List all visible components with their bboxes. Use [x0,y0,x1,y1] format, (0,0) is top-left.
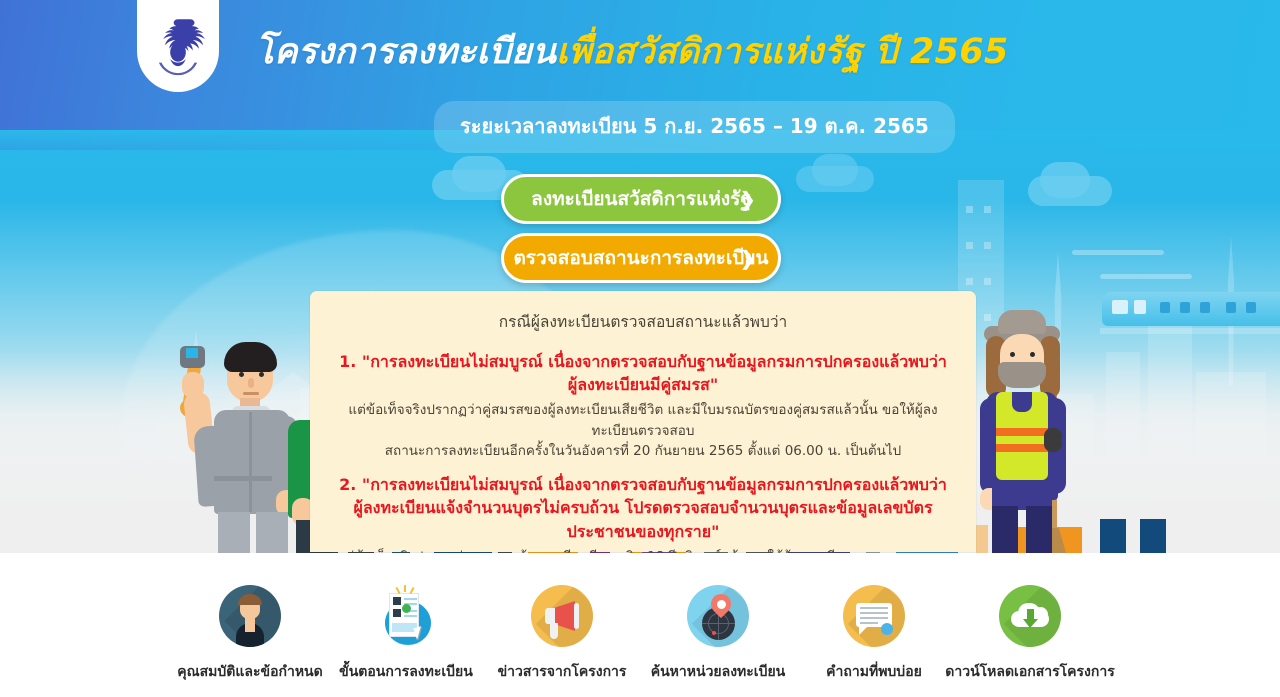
megaphone-icon [531,585,593,647]
quicknav-label: คำถามที่พบบ่อย [826,661,922,683]
chevron-right-icon: ❯ [739,187,756,211]
check-status-button[interactable]: ตรวจสอบสถานะการลงทะเบียน ❯ [501,233,781,283]
notice-item-1-body: แต่ข้อเท็จจริงปรากฏว่าคู่สมรสของผู้ลงทะเ… [336,400,950,461]
notice-item-1-title: 1. "การลงทะเบียนไม่สมบูรณ์ เนื่องจากตรวจ… [336,350,950,396]
quicknav-label: ข่าวสารจากโครงการ [498,661,627,683]
cloud-download-icon [999,585,1061,647]
quicknav-item-faq[interactable]: คำถามที่พบบ่อย [796,585,952,683]
quicknav-item-steps[interactable]: ขั้นตอนการลงทะเบียน [328,585,484,683]
notice-item-1-title-line1: 1. "การลงทะเบียนไม่สมบูรณ์ เนื่องจากตรวจ… [336,350,950,373]
quicknav-item-downloads[interactable]: ดาวน์โหลดเอกสารโครงการ [952,585,1108,683]
quick-nav: คุณสมบัติและข้อกำหนด ขั้นตอนการลงทะเบียน [0,553,1280,697]
quicknav-label: ขั้นตอนการลงทะเบียน [339,661,473,683]
notice-item-2-title-line2: ผู้ลงทะเบียนแจ้งจำนวนบุตรไม่ครบถ้วน โปรด… [336,496,950,542]
quicknav-item-qualifications[interactable]: คุณสมบัติและข้อกำหนด [172,585,328,683]
register-button[interactable]: ลงทะเบียนสวัสดิการแห่งรัฐ ❯ [501,174,781,224]
chevron-right-icon: ❯ [739,246,756,270]
notice-item-2-title: 2. "การลงทะเบียนไม่สมบูรณ์ เนื่องจากตรวจ… [336,473,950,543]
notice-item-2-title-line1: 2. "การลงทะเบียนไม่สมบูรณ์ เนื่องจากตรวจ… [336,473,950,496]
quicknav-item-find-office[interactable]: ค้นหาหน่วยลงทะเบียน [640,585,796,683]
document-steps-icon [375,585,437,647]
register-button-label: ลงทะเบียนสวัสดิการแห่งรัฐ [531,184,751,214]
garuda-emblem-icon [150,14,206,80]
notice-item-2-body-line1: แต่ข้อเท็จจริงปรากฏว่าบุตรของผู้ลงทะเบีย… [336,547,950,553]
quicknav-item-news[interactable]: ข่าวสารจากโครงการ [484,585,640,683]
page-root: โครงการลงทะเบียนเพื่อสวัสดิการแห่งรัฐ ปี… [0,0,1280,697]
map-pin-icon [687,585,749,647]
user-avatar-icon [219,585,281,647]
notice-item-1-body-line1: แต่ข้อเท็จจริงปรากฏว่าคู่สมรสของผู้ลงทะเ… [336,400,950,441]
chat-bubble-icon [843,585,905,647]
notice-item-1-title-line2: ผู้ลงทะเบียนมีคู่สมรส" [336,373,950,396]
quicknav-label: ค้นหาหน่วยลงทะเบียน [651,661,786,683]
notice-card: กรณีผู้ลงทะเบียนตรวจสอบสถานะแล้วพบว่า 1.… [310,291,976,552]
emblem-plate [137,0,219,92]
notice-item-2-body: แต่ข้อเท็จจริงปรากฏว่าบุตรของผู้ลงทะเบีย… [336,547,950,553]
page-title: โครงการลงทะเบียนเพื่อสวัสดิการแห่งรัฐ ปี… [255,24,1155,79]
notice-item-1-body-line2: สถานะการลงทะเบียนอีกครั้งในวันอังคารที่ … [336,441,950,461]
notice-heading: กรณีผู้ลงทะเบียนตรวจสอบสถานะแล้วพบว่า [336,309,950,334]
check-status-button-label: ตรวจสอบสถานะการลงทะเบียน [513,243,768,273]
quicknav-label: ดาวน์โหลดเอกสารโครงการ [945,661,1115,683]
hero-banner: โครงการลงทะเบียนเพื่อสวัสดิการแห่งรัฐ ปี… [0,0,1280,553]
page-title-highlight: เพื่อสวัสดิการแห่งรัฐ ปี 2565 [556,32,1008,72]
registration-period-pill: ระยะเวลาลงทะเบียน 5 ก.ย. 2565 – 19 ต.ค. … [434,101,955,153]
page-title-main: โครงการลงทะเบียน [255,32,556,72]
quicknav-label: คุณสมบัติและข้อกำหนด [177,661,322,683]
